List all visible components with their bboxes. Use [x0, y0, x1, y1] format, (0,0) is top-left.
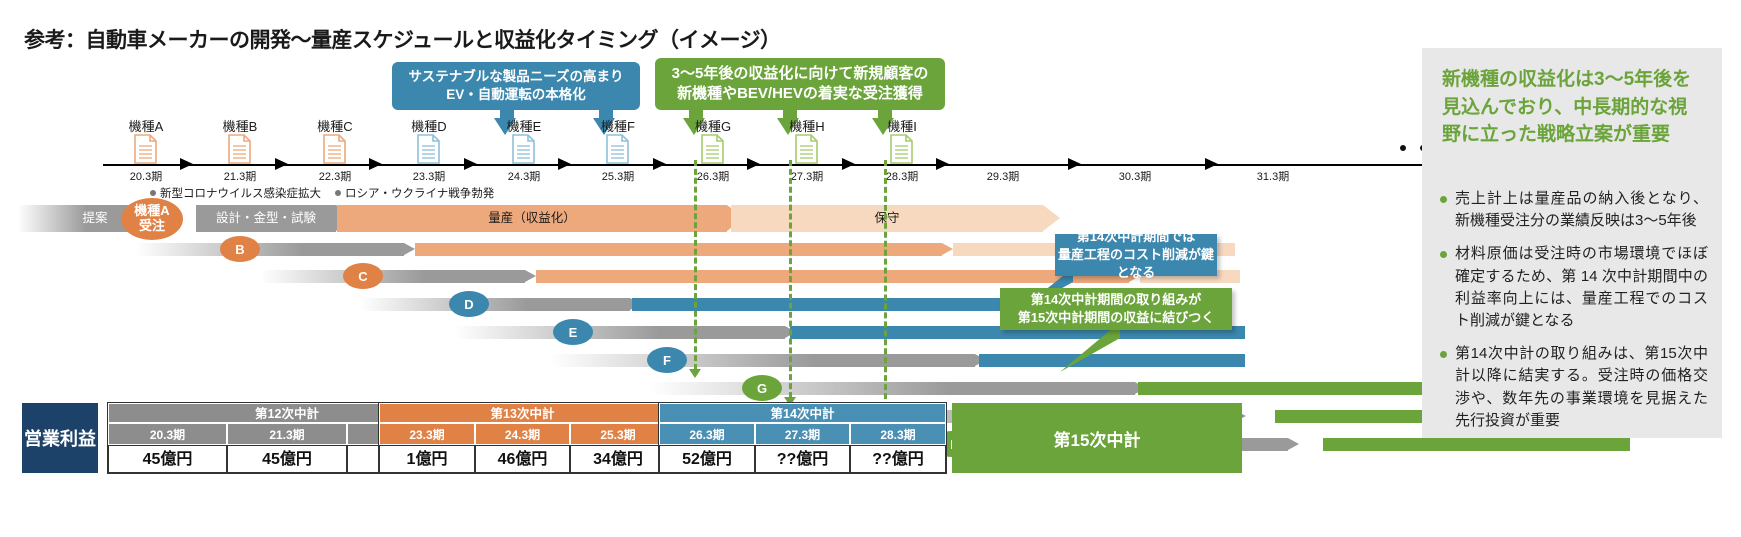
- phase-mass-production-label: 量産（収益化）: [337, 205, 727, 232]
- plan-period-21-3: 21.3期: [227, 423, 347, 445]
- event-bullet-war: [335, 190, 341, 196]
- timeline-tick-11: [1205, 158, 1218, 170]
- model-label-c: 機種C: [287, 116, 383, 135]
- plan-group-13th: 第13次中計 23.3期 1億円 24.3期 46億円 25.3期 34億円: [379, 403, 666, 473]
- event-notes: 新型コロナウイルス感染症拡大ロシア・ウクライナ戦争勃発: [150, 185, 494, 201]
- page-title: 参考：自動車メーカーの開発〜量産スケジュールと収益化タイミング（イメージ）: [24, 24, 781, 54]
- plan-col-21-3: 21.3期 45億円: [227, 423, 347, 473]
- info-panel-headline: 新機種の収益化は3〜5年後を見込んでおり、中長期的な視野に立った戦略立案が重要: [1442, 66, 1704, 149]
- info-bullet-1: 売上計上は量産品の納入後となり、新機種受注分の業績反映は3〜5年後: [1440, 188, 1708, 232]
- plan-value-21-3: 45億円: [227, 445, 347, 473]
- model-label-a: 機種A: [98, 116, 194, 135]
- document-icon-g: [701, 134, 725, 164]
- document-icon-c: [323, 134, 347, 164]
- period-label-23-3: 23.3期: [381, 168, 477, 184]
- plan-col-28-3: 28.3期 ??億円: [850, 423, 946, 473]
- period-label-26-3: 26.3期: [665, 168, 761, 184]
- gantt-bar-g-design: [650, 382, 1135, 395]
- plan-group-14th: 第14次中計 26.3期 52億円 27.3期 ??億円 28.3期 ??億円: [659, 403, 946, 473]
- plan-group-14th-name: 第14次中計: [659, 403, 946, 423]
- info-panel-bullet-list: 売上計上は量産品の納入後となり、新機種受注分の業績反映は3〜5年後 材料原価は受…: [1440, 188, 1708, 443]
- dash-connector-g: [694, 160, 697, 370]
- period-label-28-3: 28.3期: [854, 168, 950, 184]
- plan-period-28-3: 28.3期: [850, 423, 946, 445]
- gantt-bar-c-design-tip: [525, 270, 536, 282]
- plan-period-23-3: 23.3期: [379, 423, 475, 445]
- plan-period-20-3: 20.3期: [108, 423, 227, 445]
- plan-period-26-3: 26.3期: [659, 423, 755, 445]
- info-bullet-2: 材料原価は受注時の市場環境でほぼ確定するため、第 14 次中計期間中の利益率向上…: [1440, 243, 1708, 332]
- gantt-bar-e-design: [455, 326, 785, 339]
- document-icon-e: [512, 134, 536, 164]
- event-bullet-covid: [150, 190, 156, 196]
- document-icon-a: [134, 134, 158, 164]
- callout-monetization-target: 3〜5年後の収益化に向けて新規顧客の 新機種やBEV/HEVの着実な受注獲得: [655, 58, 945, 110]
- event-label-war: ロシア・ウクライナ戦争勃発: [345, 188, 494, 200]
- plan-value-23-3: 1億円: [379, 445, 475, 473]
- gantt-bar-b-design-tip: [404, 243, 415, 255]
- plan-value-24-3: 46億円: [475, 445, 570, 473]
- plan-group-13th-name: 第13次中計: [379, 403, 666, 423]
- model-label-h: 機種H: [759, 116, 855, 135]
- period-label-24-3: 24.3期: [476, 168, 572, 184]
- callout-sustainable-needs: サステナブルな製品ニーズの高まり EV・自動運転の本格化: [392, 62, 640, 110]
- plan-value-27-3: ??億円: [755, 445, 850, 473]
- plan-group-15th: 第15次中計: [952, 403, 1242, 473]
- gantt-bar-d-design: [360, 298, 630, 311]
- plan-col-26-3: 26.3期 52億円: [659, 423, 755, 473]
- callout-fruit-of-efforts: 第14次中計期間の取り組みが 第15次中計期間の収益に結びつく: [1000, 288, 1232, 330]
- period-label-22-3: 22.3期: [287, 168, 383, 184]
- gantt-node-e[interactable]: E: [553, 319, 593, 345]
- document-icon-b: [228, 134, 252, 164]
- dash-arrow-g: [689, 369, 701, 378]
- info-bullet-3: 第14次中計の取り組みは、第15次中計以降に結実する。受注時の価格交渉や、数年先…: [1440, 343, 1708, 432]
- gantt-node-d[interactable]: D: [449, 291, 489, 317]
- plan-period-27-3: 27.3期: [755, 423, 850, 445]
- document-icon-i: [890, 134, 914, 164]
- gantt-node-a[interactable]: 機種A 受注: [121, 198, 183, 240]
- gantt-bar-b-design: [136, 243, 404, 256]
- plan-value-28-3: ??億円: [850, 445, 946, 473]
- gantt-bar-c-design: [260, 270, 525, 283]
- period-label-29-3: 29.3期: [948, 168, 1058, 184]
- model-label-f: 機種F: [570, 116, 666, 135]
- gantt-bar-b-production-tip: [942, 243, 953, 255]
- event-label-covid: 新型コロナウイルス感染症拡大: [160, 188, 321, 200]
- gantt-node-c[interactable]: C: [343, 263, 383, 289]
- plan-value-25-3: 34億円: [570, 445, 666, 473]
- plan-col-24-3: 24.3期 46億円: [475, 423, 570, 473]
- gantt-node-g[interactable]: G: [742, 375, 782, 401]
- phase-design-label: 設計・金型・試験: [196, 205, 336, 232]
- model-label-d: 機種D: [381, 116, 477, 135]
- plan-col-27-3: 27.3期 ??億円: [755, 423, 850, 473]
- period-label-20-3: 20.3期: [98, 168, 194, 184]
- period-label-30-3: 30.3期: [1080, 168, 1190, 184]
- document-icon-f: [606, 134, 630, 164]
- plan-period-25-3: 25.3期: [570, 423, 666, 445]
- dash-connector-i: [884, 160, 887, 426]
- gantt-bar-b-production: [415, 243, 942, 256]
- phase-maintenance-label: 保守: [731, 205, 1043, 232]
- model-label-i: 機種I: [854, 116, 950, 135]
- gantt-node-b[interactable]: B: [220, 236, 260, 262]
- plan-col-25-3: 25.3期 34億円: [570, 423, 666, 473]
- gantt-bar-i-design-tip: [1288, 438, 1299, 450]
- gantt-bar-f-design: [550, 354, 975, 367]
- period-label-21-3: 21.3期: [192, 168, 288, 184]
- dash-connector-h: [789, 160, 792, 398]
- plan-col-20-3: 20.3期 45億円: [108, 423, 227, 473]
- plan-period-24-3: 24.3期: [475, 423, 570, 445]
- period-label-31-3: 31.3期: [1218, 168, 1328, 184]
- plan-value-20-3: 45億円: [108, 445, 227, 473]
- model-label-g: 機種G: [665, 116, 761, 135]
- plan-col-23-3: 23.3期 1億円: [379, 423, 475, 473]
- document-icon-h: [795, 134, 819, 164]
- period-label-25-3: 25.3期: [570, 168, 666, 184]
- timeline-axis: [103, 164, 1623, 166]
- document-icon-d: [417, 134, 441, 164]
- period-label-27-3: 27.3期: [759, 168, 855, 184]
- gantt-node-f[interactable]: F: [647, 347, 687, 373]
- operating-profit-label: 営業利益: [22, 403, 98, 473]
- model-label-e: 機種E: [476, 116, 572, 135]
- info-panel: 新機種の収益化は3〜5年後を見込んでおり、中長期的な視野に立った戦略立案が重要 …: [1422, 48, 1722, 438]
- model-label-b: 機種B: [192, 116, 288, 135]
- plan-value-26-3: 52億円: [659, 445, 755, 473]
- callout-cost-reduction: 第14次中計期間では 量産工程のコスト削減が鍵となる: [1055, 234, 1217, 276]
